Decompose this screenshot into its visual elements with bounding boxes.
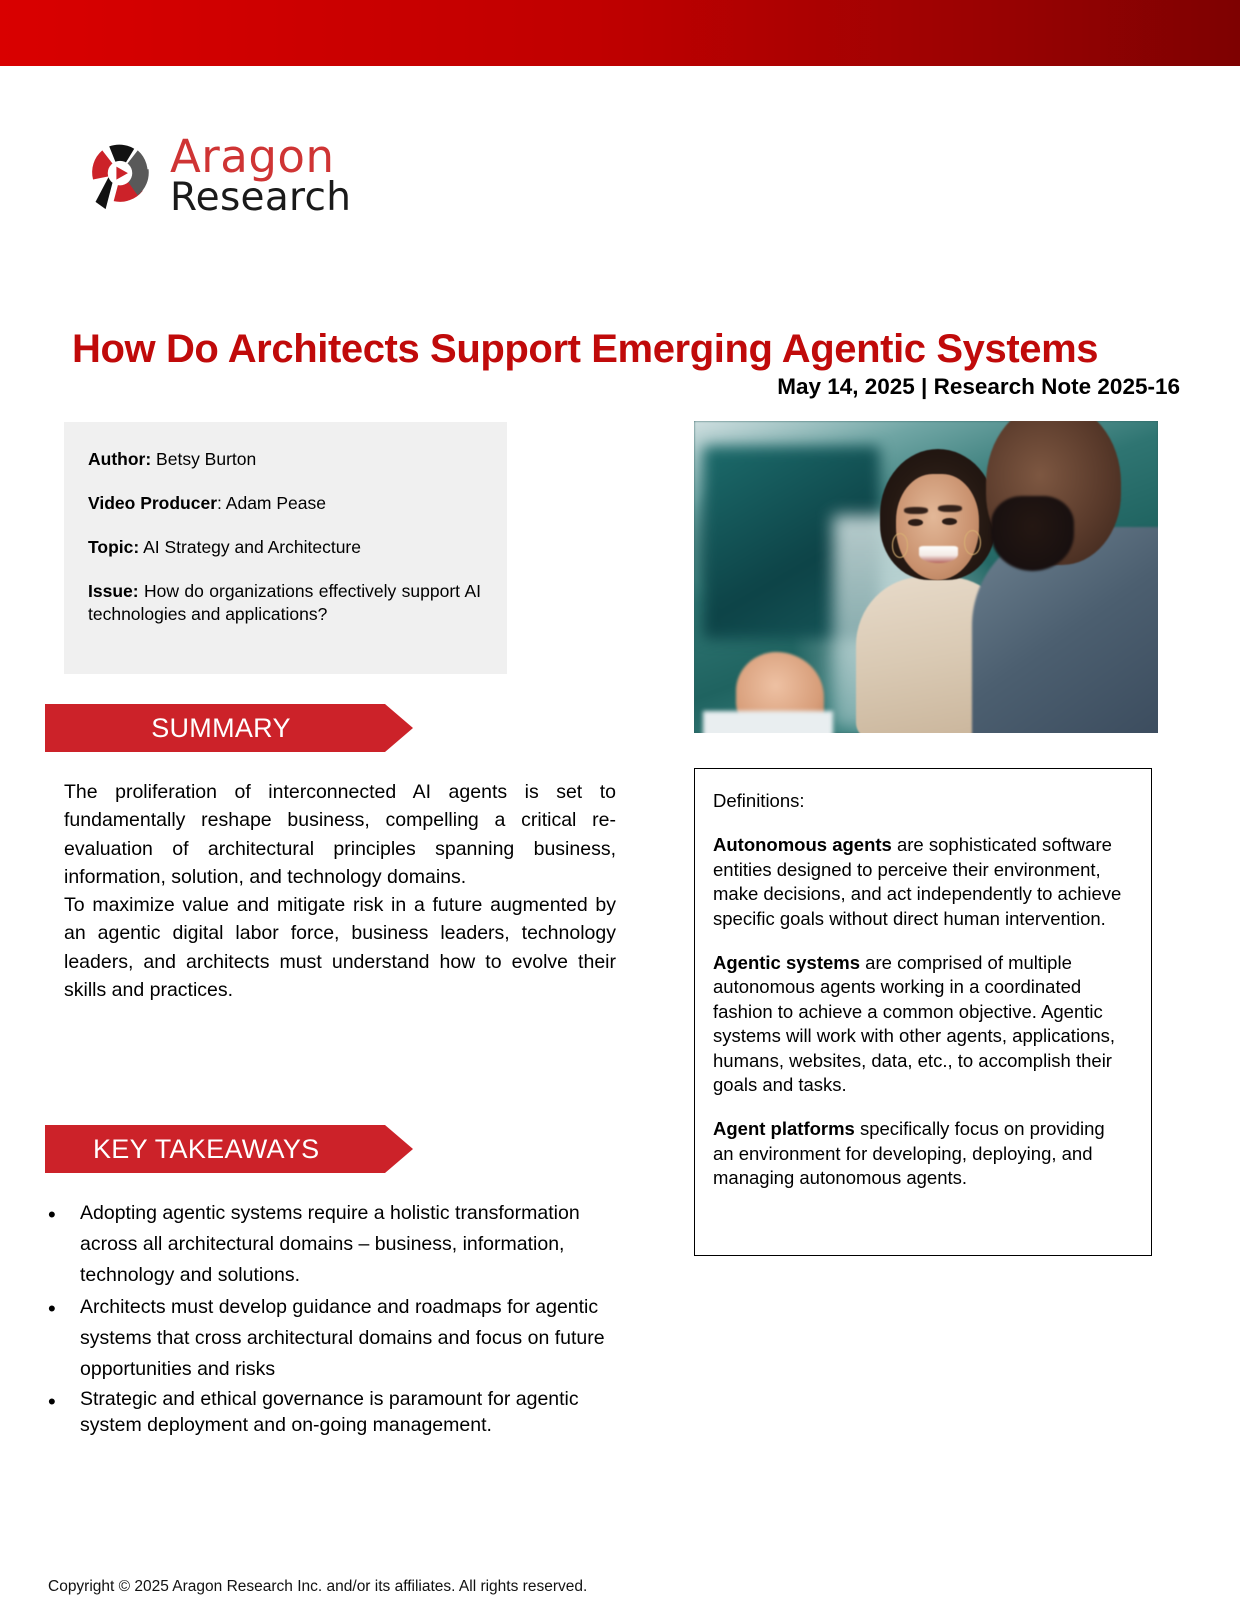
photo-woman-face bbox=[896, 474, 980, 580]
photo-woman-eye-right bbox=[942, 518, 957, 525]
list-item: Strategic and ethical governance is para… bbox=[80, 1387, 636, 1439]
photo-man-beard bbox=[991, 496, 1075, 571]
video-producer-value: : Adam Pease bbox=[217, 493, 326, 513]
key-takeaways-list: Adopting agentic systems require a holis… bbox=[36, 1198, 636, 1441]
definition-term: Agentic systems bbox=[713, 952, 860, 973]
photo-tablet-device bbox=[703, 711, 833, 733]
topic-value: AI Strategy and Architecture bbox=[139, 537, 361, 557]
definition-entry: Agent platforms specifically focus on pr… bbox=[713, 1117, 1129, 1190]
topic-label: Topic: bbox=[88, 537, 139, 557]
author-label: Author: bbox=[88, 449, 151, 469]
photo-woman-eyebrow-right bbox=[938, 505, 962, 512]
photo-woman-smile bbox=[919, 546, 958, 563]
summary-banner-label: SUMMARY bbox=[151, 713, 291, 744]
top-accent-bar bbox=[0, 0, 1240, 66]
page-title: How Do Architects Support Emerging Agent… bbox=[72, 327, 1182, 372]
definition-term: Autonomous agents bbox=[713, 834, 892, 855]
document-metadata-box: Author: Betsy Burton Video Producer: Ada… bbox=[64, 422, 507, 674]
list-item: Adopting agentic systems require a holis… bbox=[80, 1198, 636, 1290]
aragon-research-logo: Aragon Research bbox=[84, 135, 351, 217]
list-item: Architects must develop guidance and roa… bbox=[80, 1292, 636, 1384]
photo-woman-eyebrow-left bbox=[904, 507, 928, 514]
video-producer-label: Video Producer bbox=[88, 493, 217, 513]
summary-banner: SUMMARY bbox=[45, 704, 413, 752]
key-takeaways-banner-label: KEY TAKEAWAYS bbox=[93, 1134, 319, 1165]
issue-label: Issue: bbox=[88, 581, 139, 601]
issue-line: Issue: How do organizations effectively … bbox=[88, 580, 481, 626]
logo-wordmark-secondary: Research bbox=[170, 179, 351, 217]
author-line: Author: Betsy Burton bbox=[88, 448, 481, 471]
header-photograph bbox=[694, 421, 1158, 733]
issue-value: How do organizations effectively support… bbox=[88, 581, 481, 624]
definitions-heading: Definitions: bbox=[713, 789, 1129, 813]
copyright-footer: Copyright © 2025 Aragon Research Inc. an… bbox=[48, 1578, 587, 1596]
definition-text: are comprised of multiple autonomous age… bbox=[713, 952, 1115, 1095]
summary-paragraph-1: The proliferation of interconnected AI a… bbox=[64, 778, 616, 891]
topic-line: Topic: AI Strategy and Architecture bbox=[88, 536, 481, 559]
author-value: Betsy Burton bbox=[151, 449, 256, 469]
summary-paragraph-2: To maximize value and mitigate risk in a… bbox=[64, 891, 616, 1004]
publication-date-and-note-number: May 14, 2025 | Research Note 2025-16 bbox=[777, 374, 1180, 400]
definitions-box: Definitions: Autonomous agents are sophi… bbox=[694, 768, 1152, 1256]
video-producer-line: Video Producer: Adam Pease bbox=[88, 492, 481, 515]
aragon-logo-mark-icon bbox=[84, 137, 156, 215]
summary-text: The proliferation of interconnected AI a… bbox=[64, 778, 616, 1004]
logo-wordmark-primary: Aragon bbox=[170, 135, 351, 179]
definition-entry: Agentic systems are comprised of multipl… bbox=[713, 951, 1129, 1097]
definition-term: Agent platforms bbox=[713, 1118, 855, 1139]
key-takeaways-banner: KEY TAKEAWAYS bbox=[45, 1125, 413, 1173]
definition-entry: Autonomous agents are sophisticated soft… bbox=[713, 833, 1129, 931]
photo-woman-earring-right bbox=[964, 530, 981, 555]
